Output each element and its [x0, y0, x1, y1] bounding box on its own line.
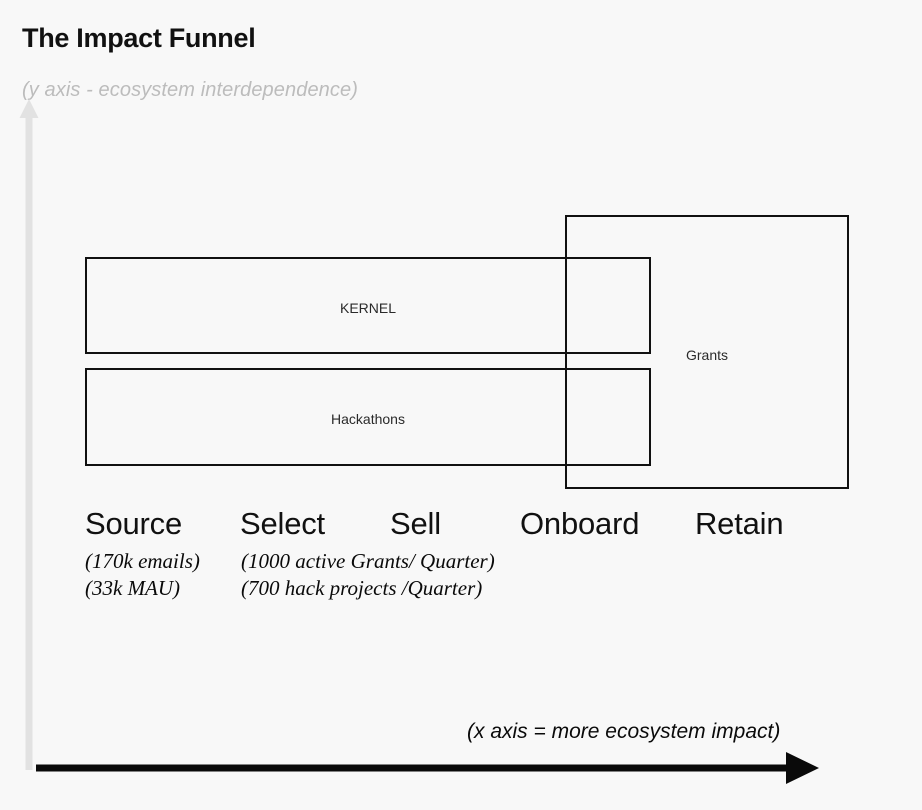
funnel-box-label-hackathons: Hackathons	[85, 411, 651, 427]
stage-label-source: Source	[85, 506, 182, 542]
funnel-box-label-grants: Grants	[651, 347, 763, 363]
page-title: The Impact Funnel	[22, 23, 255, 54]
y-axis-arrow-icon	[18, 98, 42, 770]
stage-label-onboard: Onboard	[520, 506, 639, 542]
stage-label-sell: Sell	[390, 506, 441, 542]
y-axis-label: (y axis - ecosystem interdependence)	[22, 79, 358, 102]
funnel-box-label-kernel: KERNEL	[85, 300, 651, 316]
stage-label-retain: Retain	[695, 506, 783, 542]
metric-emails: (170k emails)	[85, 549, 200, 574]
x-axis-label: (x axis = more ecosystem impact)	[467, 720, 780, 744]
stage-label-select: Select	[240, 506, 325, 542]
impact-funnel-diagram: The Impact Funnel (y axis - ecosystem in…	[0, 0, 922, 810]
x-axis-arrow-icon	[34, 748, 834, 790]
metric-mau: (33k MAU)	[85, 576, 180, 601]
stage-label-row: Source Select Sell Onboard Retain	[85, 506, 845, 548]
metric-hack-projects: (700 hack projects /Quarter)	[241, 576, 482, 601]
metric-active-grants: (1000 active Grants/ Quarter)	[241, 549, 495, 574]
